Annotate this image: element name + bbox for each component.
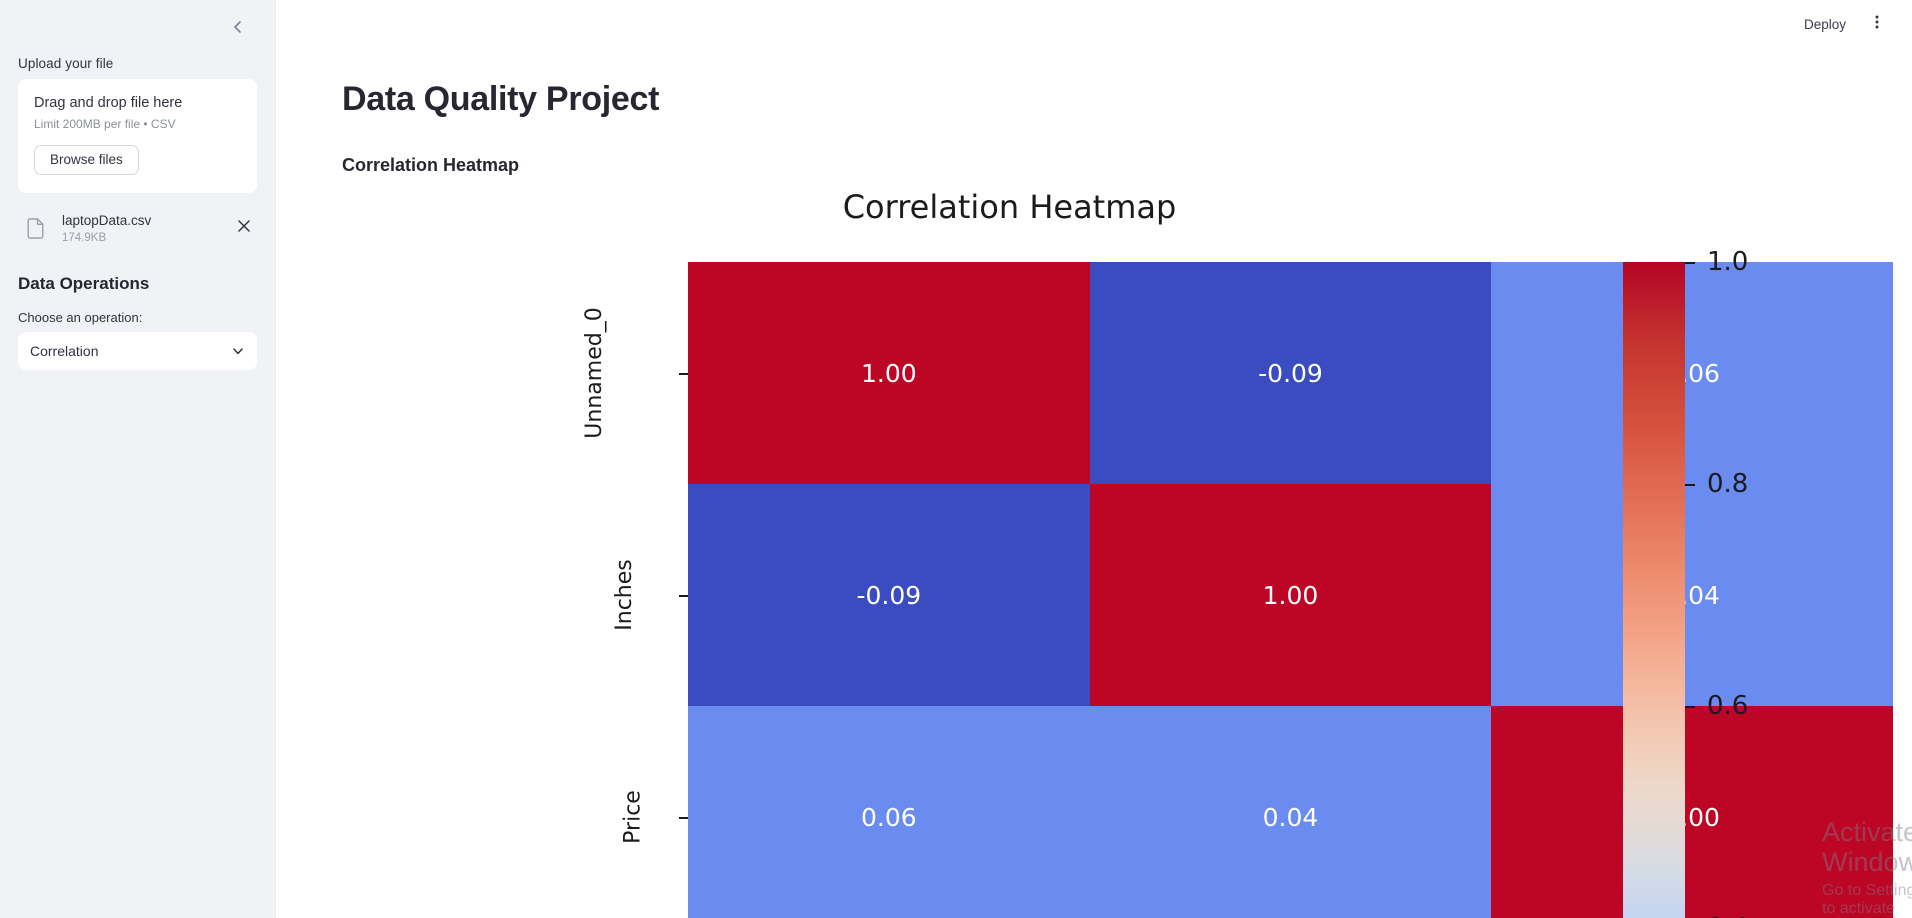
deploy-button[interactable]: Deploy	[1792, 11, 1858, 38]
chart-title: Correlation Heatmap	[342, 188, 1677, 226]
heatmap-cell: 1.00	[688, 262, 1090, 484]
page-title: Data Quality Project	[342, 80, 659, 119]
y-axis: Unnamed_0InchesPrice	[342, 262, 688, 918]
operation-select-label: Choose an operation:	[0, 310, 275, 325]
colorbar-tick-mark	[1685, 262, 1695, 264]
y-axis-tick-mark	[679, 373, 688, 375]
browse-files-button[interactable]: Browse files	[34, 145, 139, 175]
colorbar-tick-label: 0.6	[1707, 691, 1748, 721]
main-content: Deploy Data Quality Project Correlation …	[276, 0, 1912, 918]
chevron-left-icon	[230, 19, 246, 40]
topbar: Deploy	[1792, 0, 1912, 48]
file-meta: laptopData.csv 174.9KB	[52, 213, 231, 244]
correlation-heatmap-figure: Correlation Heatmap Unnamed_0InchesPrice…	[342, 188, 1912, 918]
colorbar-tick-mark	[1685, 706, 1695, 708]
file-name: laptopData.csv	[62, 213, 231, 230]
sidebar-collapse-button[interactable]	[223, 14, 253, 44]
colorbar-tick-label: 0.4	[1707, 913, 1748, 918]
heatmap-cell: 0.04	[1090, 706, 1492, 918]
overflow-menu-button[interactable]	[1862, 9, 1892, 39]
section-title: Correlation Heatmap	[342, 155, 519, 176]
colorbar-tick-label: 0.8	[1707, 469, 1748, 499]
heatmap-cell: -0.09	[1090, 262, 1492, 484]
kebab-menu-icon	[1869, 14, 1885, 35]
y-axis-tick-label: Inches	[612, 559, 637, 630]
heatmap-cell: -0.09	[688, 484, 1090, 706]
colorbar: 1.00.80.60.4	[1623, 262, 1912, 918]
y-axis-tick-label: Unnamed_0	[582, 307, 607, 438]
y-axis-tick-mark	[679, 595, 688, 597]
heatmap-cell: 0.06	[688, 706, 1090, 918]
chevron-down-icon	[231, 344, 245, 358]
y-axis-tick-label: Price	[621, 790, 646, 844]
upload-section-label: Upload your file	[0, 56, 275, 71]
remove-file-button[interactable]	[231, 215, 257, 241]
colorbar-tick-mark	[1685, 484, 1695, 486]
colorbar-tick-label: 1.0	[1707, 247, 1748, 277]
operation-select[interactable]: Correlation	[18, 332, 257, 370]
dropzone-subtitle: Limit 200MB per file • CSV	[34, 117, 241, 131]
operation-select-value: Correlation	[30, 343, 231, 359]
close-icon	[237, 219, 251, 238]
app-root: Upload your file Drag and drop file here…	[0, 0, 1912, 918]
file-icon	[18, 218, 52, 239]
heatmap-cell: 1.00	[1090, 484, 1492, 706]
uploaded-file-item: laptopData.csv 174.9KB	[18, 211, 257, 246]
data-operations-heading: Data Operations	[0, 274, 275, 294]
file-size: 174.9KB	[62, 232, 231, 244]
y-axis-tick-mark	[679, 817, 688, 819]
colorbar-gradient	[1623, 262, 1685, 918]
sidebar: Upload your file Drag and drop file here…	[0, 0, 276, 918]
file-dropzone[interactable]: Drag and drop file here Limit 200MB per …	[18, 79, 257, 193]
dropzone-title: Drag and drop file here	[34, 95, 241, 111]
